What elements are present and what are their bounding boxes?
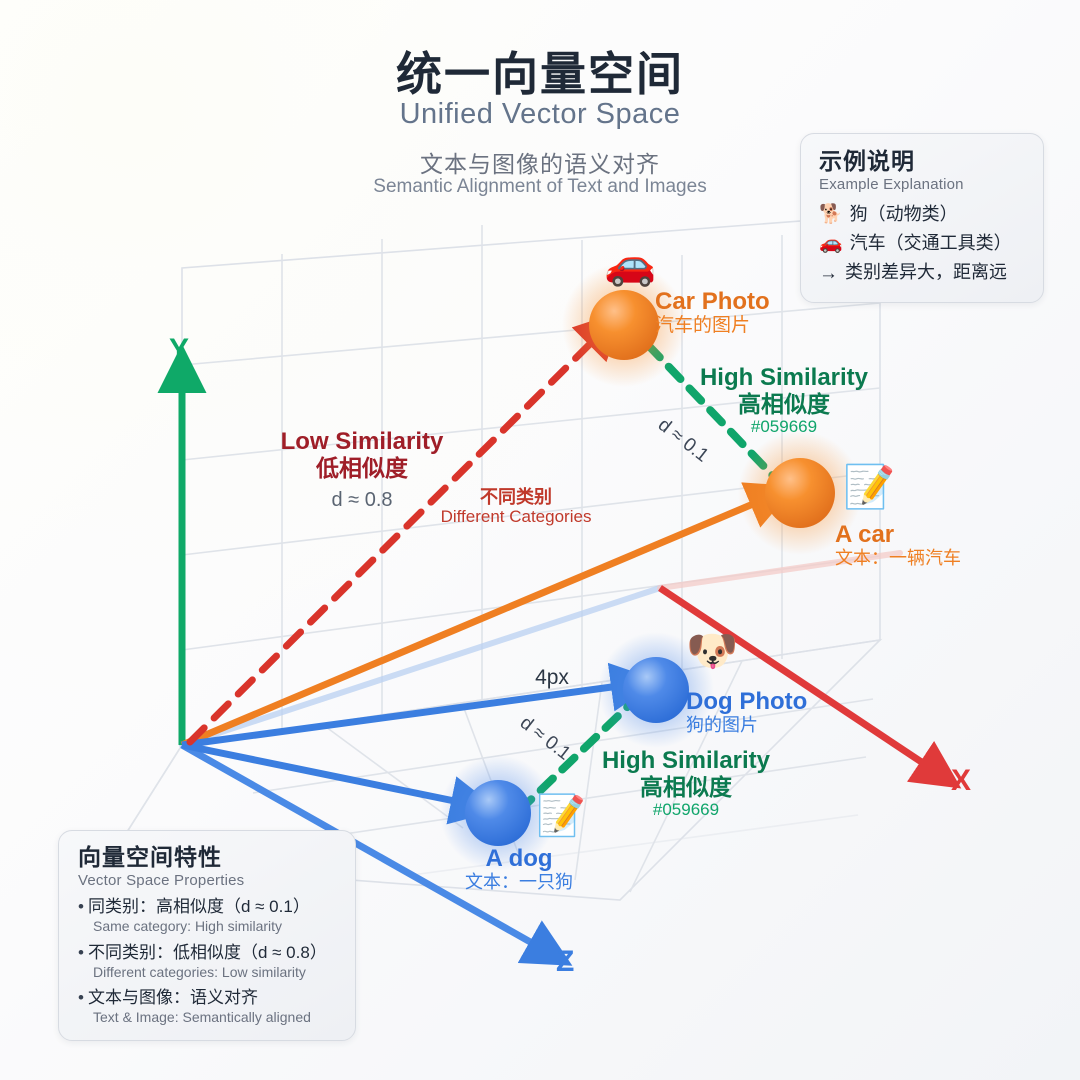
high-sim-car-hex: #059669: [700, 417, 868, 436]
property-cn: 不同类别：低相似度（d ≈ 0.8）: [88, 942, 327, 963]
dog-photo-emoji-icon: 🐶: [686, 630, 738, 672]
label-a-car-cn: 文本：一辆汽车: [835, 548, 961, 568]
vector-a-dog: [182, 745, 474, 805]
property-cn: 同类别：高相似度（d ≈ 0.1）: [88, 896, 310, 917]
label-a-dog-cn: 文本：一只狗: [465, 872, 573, 892]
legend-row-dog: 🐕 狗（动物类）: [819, 200, 1027, 229]
annotation-high-similarity-car: High Similarity 高相似度 #059669: [700, 364, 868, 436]
property-en: Text & Image: Semantically aligned: [93, 1008, 339, 1026]
properties-title-cn: 向量空间特性: [78, 844, 339, 871]
legend-row-car-label: 汽车（交通工具类）: [850, 229, 1012, 258]
property-item: •同类别：高相似度（d ≈ 0.1） Same category: High s…: [78, 896, 339, 935]
different-categories-cn: 不同类别: [441, 487, 592, 507]
legend-row-distance-label: 类别差异大，距离远: [845, 258, 1007, 287]
low-sim-en: Low Similarity: [281, 428, 444, 455]
low-sim-cn: 低相似度: [281, 455, 444, 481]
car-emoji-icon: 🚗: [819, 234, 843, 253]
bullet-icon: •: [78, 896, 84, 917]
property-en: Same category: High similarity: [93, 917, 339, 935]
properties-panel: 向量空间特性 Vector Space Properties •同类别：高相似度…: [58, 830, 356, 1041]
label-dog-photo-cn: 狗的图片: [686, 715, 807, 735]
car-photo-emoji-icon: 🚗: [604, 243, 656, 285]
different-categories-en: Different Categories: [441, 507, 592, 526]
label-car-photo-cn: 汽车的图片: [655, 315, 770, 336]
page-title-en: Unified Vector Space: [0, 98, 1080, 131]
high-sim-dog-cn: 高相似度: [602, 774, 770, 800]
property-cn: 文本与图像：语义对齐: [88, 987, 258, 1008]
axis-label-y: Y: [169, 333, 189, 367]
label-a-dog: A dog 文本：一只狗: [465, 845, 573, 892]
legend-title-cn: 示例说明: [819, 148, 1027, 175]
annotation-low-similarity: Low Similarity 低相似度 d ≈ 0.8: [281, 428, 444, 512]
label-dog-photo: Dog Photo 狗的图片: [686, 688, 807, 735]
legend-title-en: Example Explanation: [819, 176, 1027, 193]
axis-label-x: X: [951, 764, 971, 798]
label-car-photo: Car Photo 汽车的图片: [655, 288, 770, 337]
annotation-different-categories: 不同类别 Different Categories: [441, 487, 592, 527]
label-a-dog-en: A dog: [465, 845, 573, 872]
high-sim-dog-en: High Similarity: [602, 747, 770, 774]
a-dog-document-icon: 📝: [536, 796, 586, 836]
a-car-document-icon: 📝: [843, 466, 895, 508]
property-item: •不同类别：低相似度（d ≈ 0.8） Different categories…: [78, 942, 339, 981]
legend-panel: 示例说明 Example Explanation 🐕 狗（动物类） 🚗 汽车（交…: [800, 133, 1044, 303]
arrow-right-icon: →: [819, 264, 838, 283]
bullet-icon: •: [78, 987, 84, 1008]
low-sim-distance: d ≈ 0.8: [281, 489, 444, 512]
high-sim-car-cn: 高相似度: [700, 391, 868, 417]
label-dog-photo-en: Dog Photo: [686, 688, 807, 715]
legend-row-distance: → 类别差异大，距离远: [819, 258, 1027, 287]
diagram-canvas: 统一向量空间 Unified Vector Space 文本与图像的语义对齐 S…: [0, 0, 1080, 1080]
bullet-icon: •: [78, 942, 84, 963]
label-car-photo-en: Car Photo: [655, 288, 770, 315]
dog-emoji-icon: 🐕: [819, 205, 843, 224]
high-sim-dog-hex: #059669: [602, 800, 770, 819]
annotation-stroke-width: 4px: [535, 666, 569, 690]
legend-row-car: 🚗 汽车（交通工具类）: [819, 229, 1027, 258]
label-a-car: A car 文本：一辆汽车: [835, 521, 961, 568]
label-a-car-en: A car: [835, 521, 961, 548]
legend-row-dog-label: 狗（动物类）: [850, 200, 958, 229]
high-sim-car-en: High Similarity: [700, 364, 868, 391]
page-title-cn: 统一向量空间: [0, 38, 1080, 104]
property-item: •文本与图像：语义对齐 Text & Image: Semantically a…: [78, 987, 339, 1026]
properties-title-en: Vector Space Properties: [78, 872, 339, 889]
axis-label-z: Z: [556, 945, 574, 979]
annotation-high-similarity-dog: High Similarity 高相似度 #059669: [602, 747, 770, 819]
property-en: Different categories: Low similarity: [93, 963, 339, 981]
